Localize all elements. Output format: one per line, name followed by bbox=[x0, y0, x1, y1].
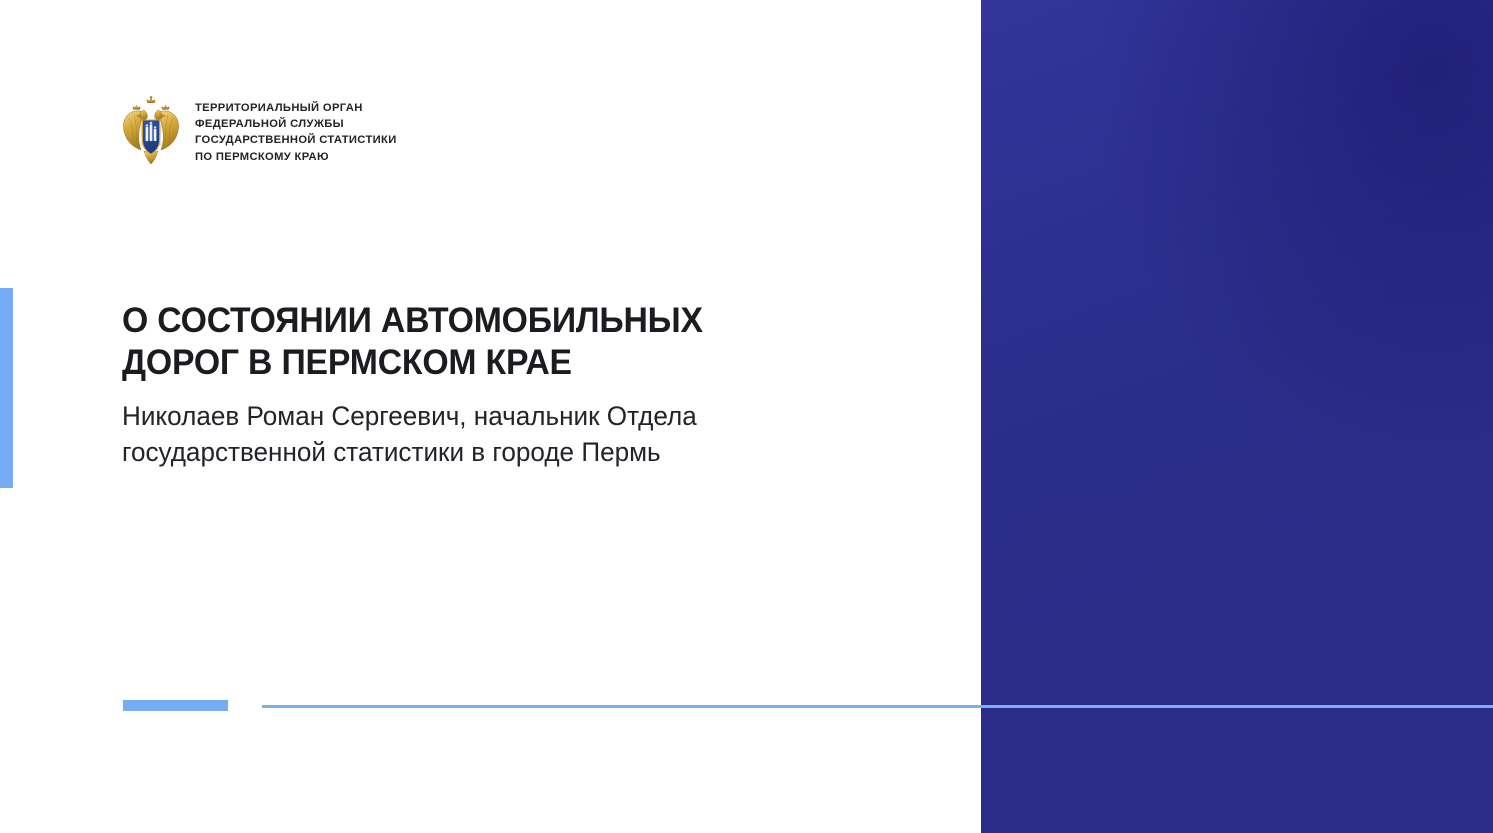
subtitle-line-1: Николаев Роман Сергеевич, начальник Отде… bbox=[122, 401, 697, 431]
wave-pattern-icon bbox=[981, 0, 1493, 833]
title-line-2: ДОРОГ В ПЕРМСКОМ КРАЕ bbox=[122, 343, 572, 382]
organization-logo-block: ТЕРРИТОРИАЛЬНЫЙ ОРГАН ФЕДЕРАЛЬНОЙ СЛУЖБЫ… bbox=[120, 96, 397, 166]
bottom-accent-bar bbox=[123, 700, 228, 711]
decorative-blue-panel bbox=[981, 0, 1493, 833]
title-block: О СОСТОЯНИИ АВТОМОБИЛЬНЫХ ДОРОГ В ПЕРМСК… bbox=[122, 300, 902, 470]
rosstat-eagle-emblem-icon bbox=[120, 96, 182, 166]
org-name-line-1: ТЕРРИТОРИАЛЬНЫЙ ОРГАН bbox=[195, 100, 397, 116]
page-subtitle: Николаев Роман Сергеевич, начальник Отде… bbox=[122, 398, 890, 470]
left-accent-bar bbox=[0, 288, 13, 488]
org-name-line-2: ФЕДЕРАЛЬНОЙ СЛУЖБЫ bbox=[195, 116, 397, 132]
org-name-line-3: ГОСУДАРСТВЕННОЙ СТАТИСТИКИ bbox=[195, 132, 397, 148]
page-title: О СОСТОЯНИИ АВТОМОБИЛЬНЫХ ДОРОГ В ПЕРМСК… bbox=[122, 300, 875, 384]
title-line-1: О СОСТОЯНИИ АВТОМОБИЛЬНЫХ bbox=[122, 301, 703, 340]
bottom-divider-line bbox=[262, 705, 1493, 708]
org-name-line-4: ПО ПЕРМСКОМУ КРАЮ bbox=[195, 149, 397, 165]
title-slide: ТЕРРИТОРИАЛЬНЫЙ ОРГАН ФЕДЕРАЛЬНОЙ СЛУЖБЫ… bbox=[0, 0, 1493, 833]
subtitle-line-2: государственной статистики в городе Перм… bbox=[122, 437, 661, 467]
organization-name: ТЕРРИТОРИАЛЬНЫЙ ОРГАН ФЕДЕРАЛЬНОЙ СЛУЖБЫ… bbox=[195, 96, 397, 165]
